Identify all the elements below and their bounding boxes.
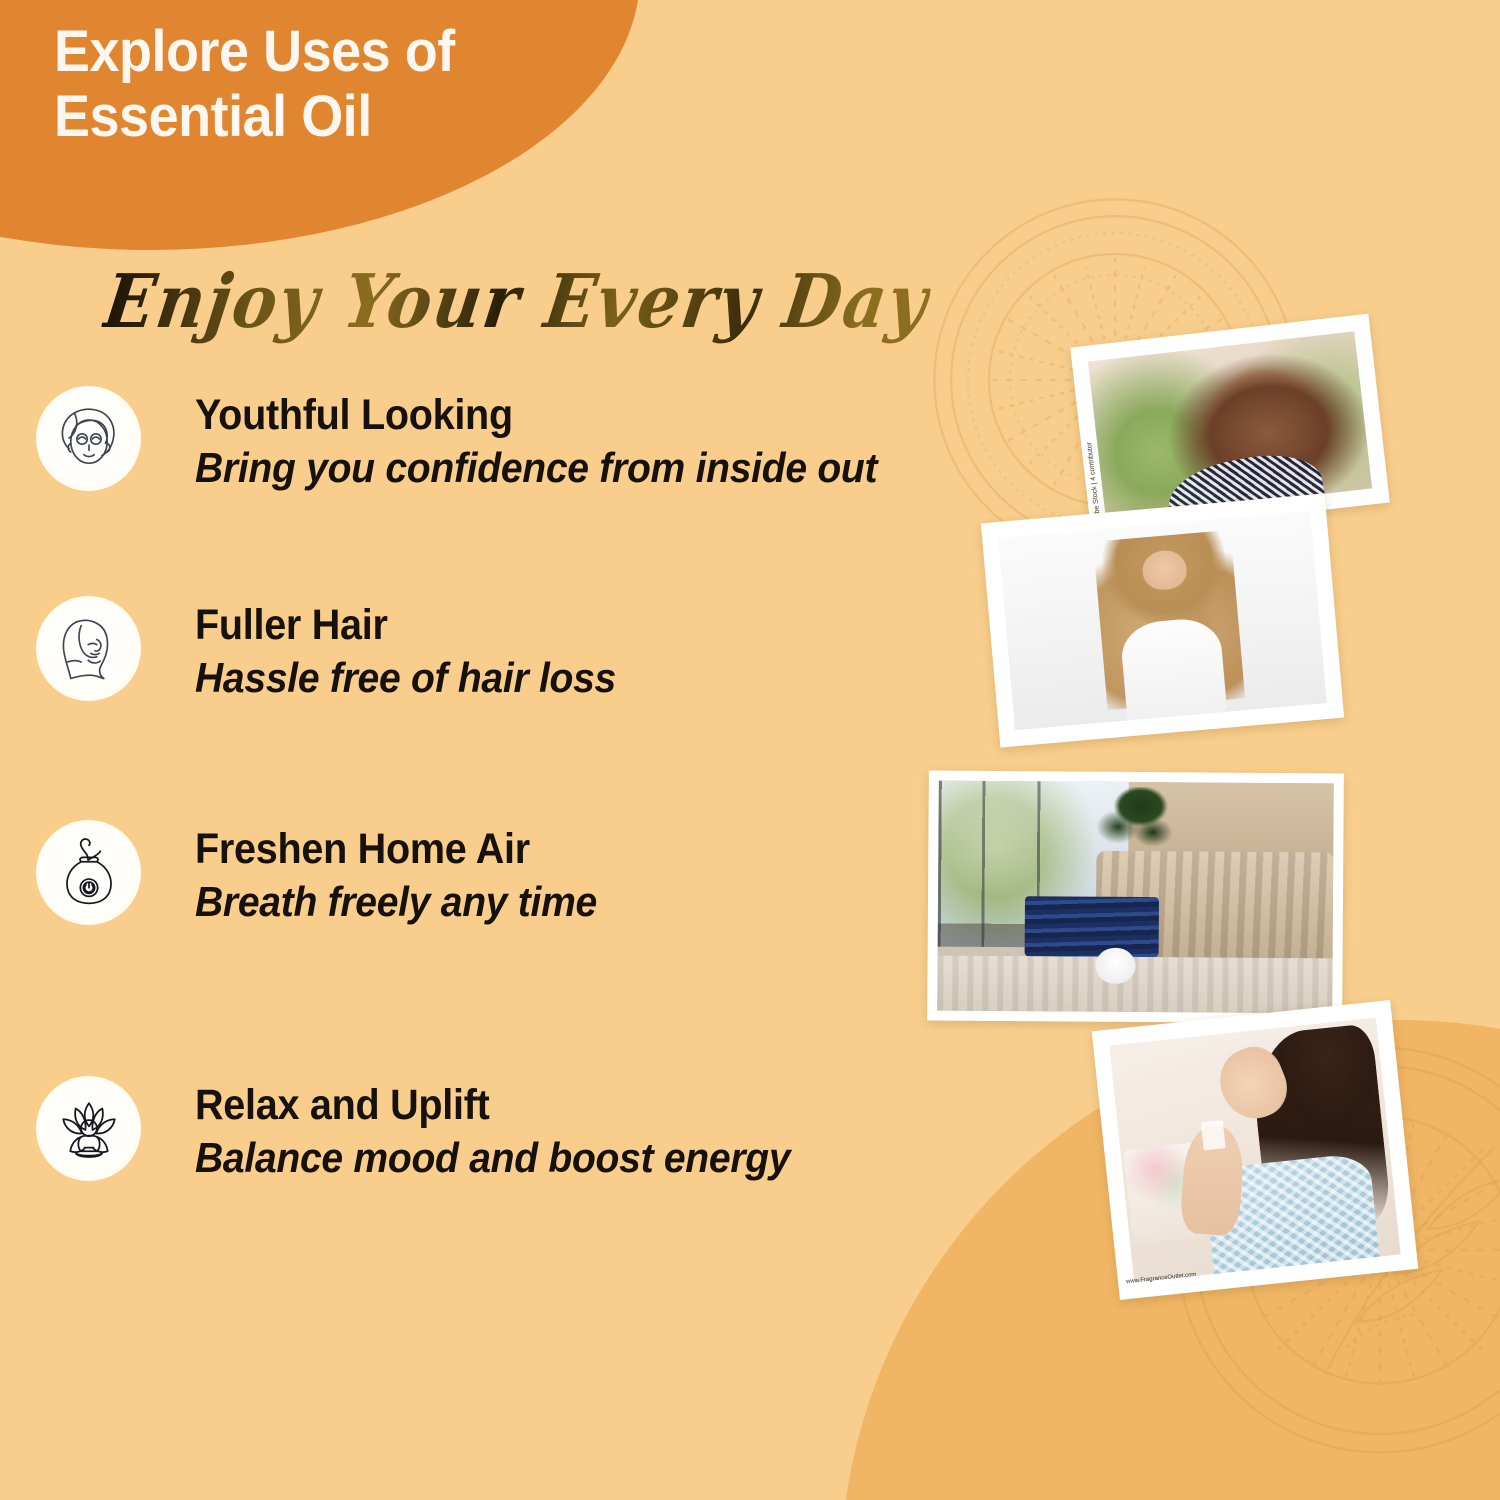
perfume-application-photo: www.FragranceOutlet.com — [1092, 1000, 1419, 1300]
photo-detail — [1095, 947, 1135, 984]
photo-image — [1109, 1018, 1400, 1283]
photo-image — [1088, 331, 1372, 518]
photo-detail — [1024, 896, 1159, 957]
photo-detail — [1201, 1120, 1225, 1151]
boho-living-room-photo — [927, 771, 1344, 1024]
photo-image — [998, 511, 1327, 731]
photo-detail — [1119, 616, 1228, 725]
blonde-wavy-hair-photo — [981, 493, 1344, 747]
photo-image — [937, 781, 1334, 1014]
photo-collage: Adobe Stock | 4 contributor — [0, 0, 1500, 1500]
